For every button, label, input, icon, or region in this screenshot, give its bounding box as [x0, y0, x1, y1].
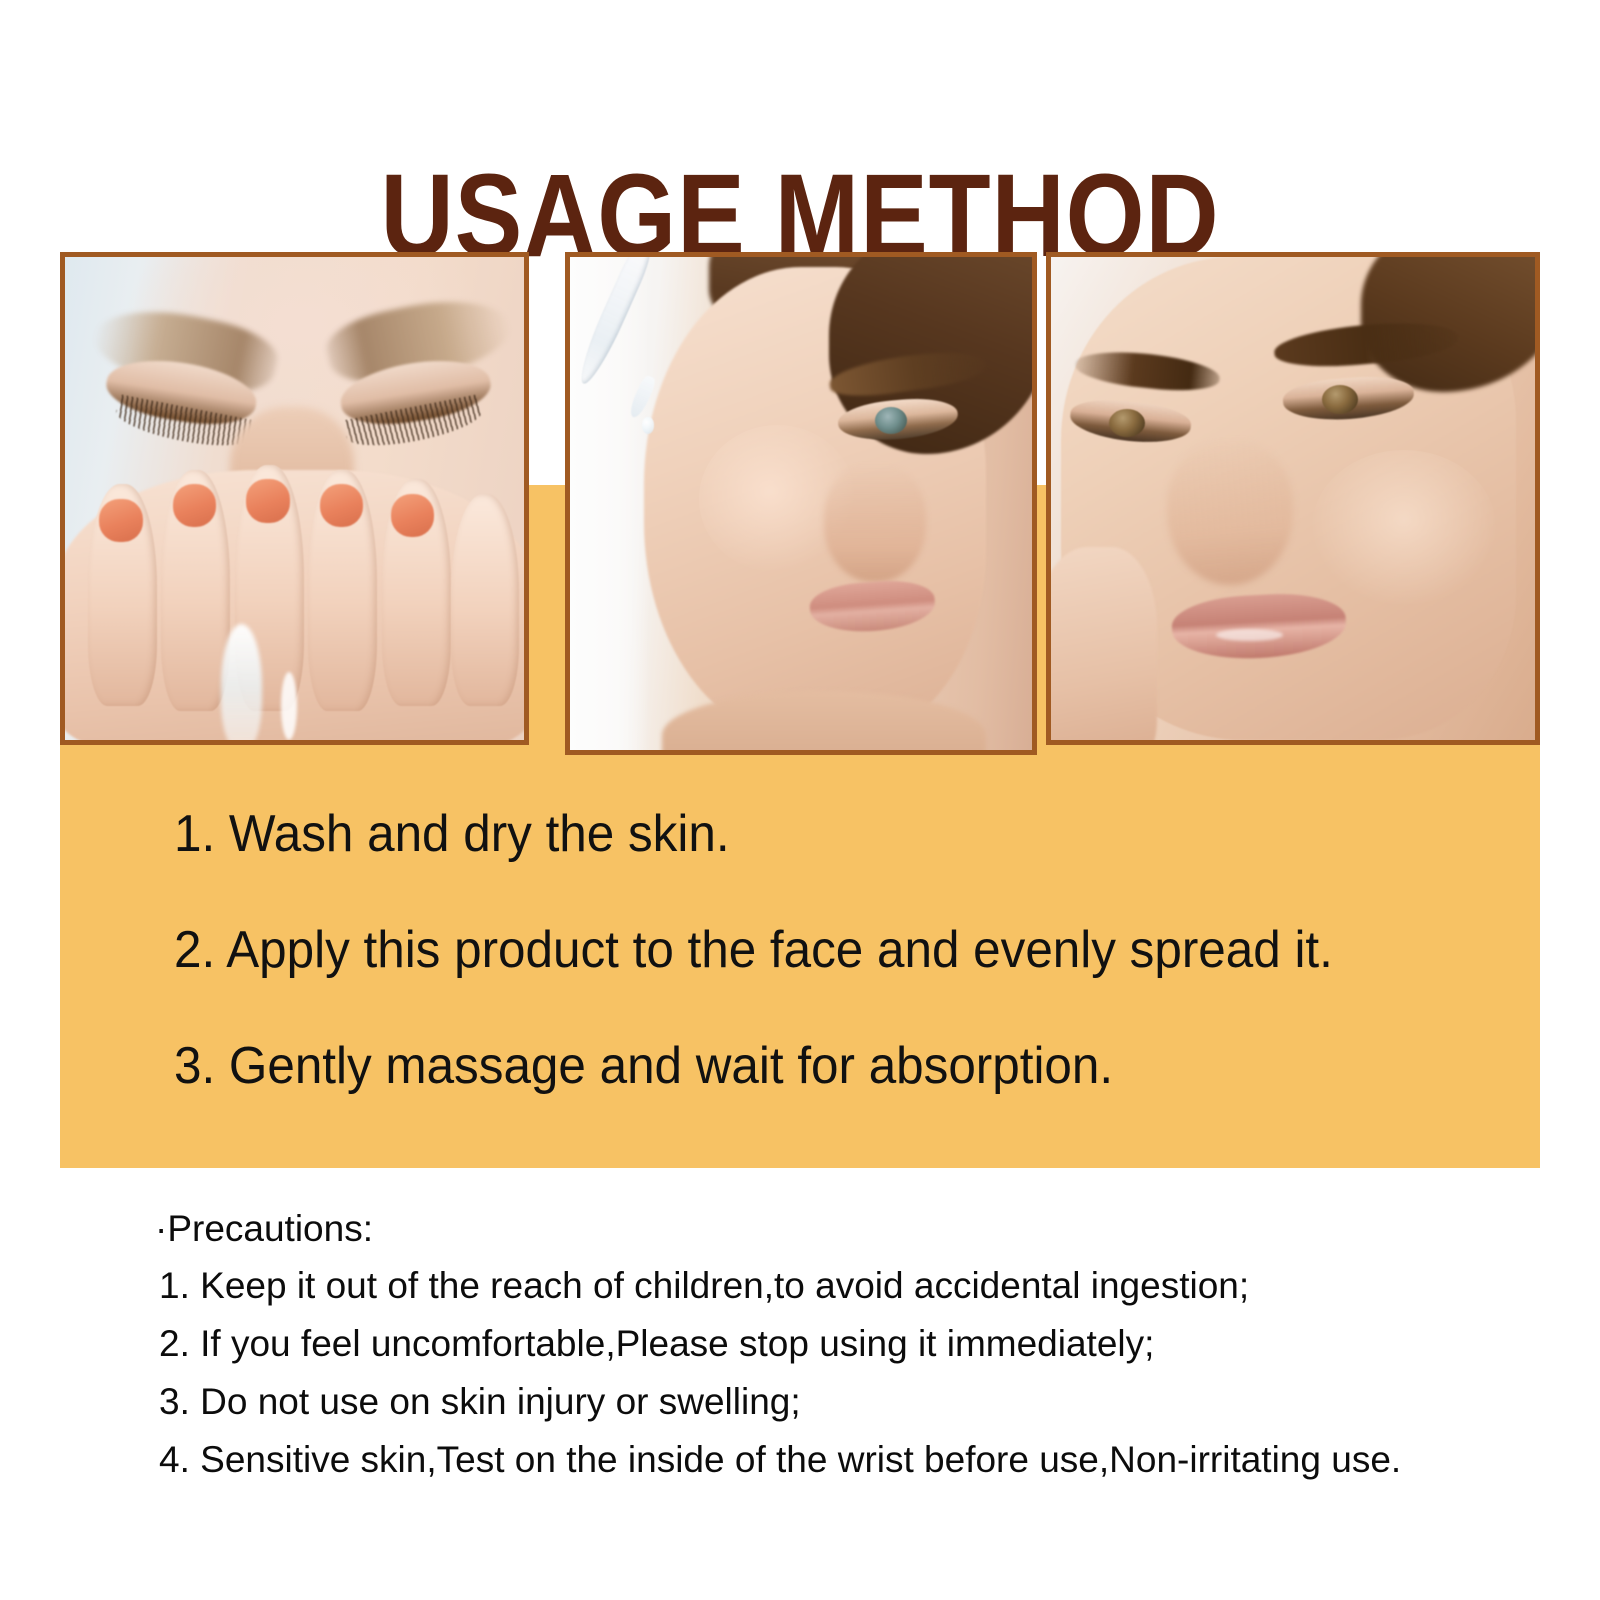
photo2-serum-droplet: [642, 417, 654, 434]
photo3-hair: [1361, 252, 1540, 392]
photo3-iris-right: [1322, 385, 1358, 414]
photo1-fingernail: [99, 499, 143, 542]
photo3-hand: [1046, 547, 1157, 745]
photo1-water-stream: [221, 624, 262, 745]
photo1-finger: [451, 494, 520, 707]
photo1-fingernail: [173, 484, 217, 527]
photo-apply-serum: [565, 252, 1037, 755]
usage-step-1: 1. Wash and dry the skin.: [60, 805, 1466, 863]
photo-strip: [60, 252, 1540, 757]
photo-glowing-skin: [1046, 252, 1540, 745]
usage-step-3: 3. Gently massage and wait for absorptio…: [60, 1037, 1466, 1095]
usage-step-2: 2. Apply this product to the face and ev…: [60, 921, 1466, 979]
photo3-nose: [1167, 441, 1293, 586]
precaution-item-2: 2. If you feel uncomfortable,Please stop…: [159, 1320, 1575, 1368]
photo-wash-face: [60, 252, 529, 745]
precautions-section: ·Precautions: 1. Keep it out of the reac…: [155, 1205, 1575, 1484]
photo-apply-serum-art: [570, 257, 1032, 750]
precaution-item-4: 4. Sensitive skin,Test on the inside of …: [159, 1436, 1575, 1484]
usage-steps-list: 1. Wash and dry the skin. 2. Apply this …: [60, 805, 1540, 1095]
photo1-water-drip: [281, 672, 297, 740]
photo1-fingernail: [391, 494, 435, 537]
precaution-item-3: 3. Do not use on skin injury or swelling…: [159, 1378, 1575, 1426]
photo-wash-face-art: [65, 257, 524, 740]
precaution-item-1: 1. Keep it out of the reach of children,…: [159, 1262, 1575, 1310]
photo1-fingernail: [246, 479, 290, 522]
photo2-nose: [824, 464, 926, 582]
precautions-heading: ·Precautions:: [155, 1205, 1575, 1253]
photo1-fingernail: [320, 484, 364, 527]
photo3-cheek-highlight: [1312, 450, 1496, 605]
photo-glowing-skin-art: [1051, 257, 1535, 740]
